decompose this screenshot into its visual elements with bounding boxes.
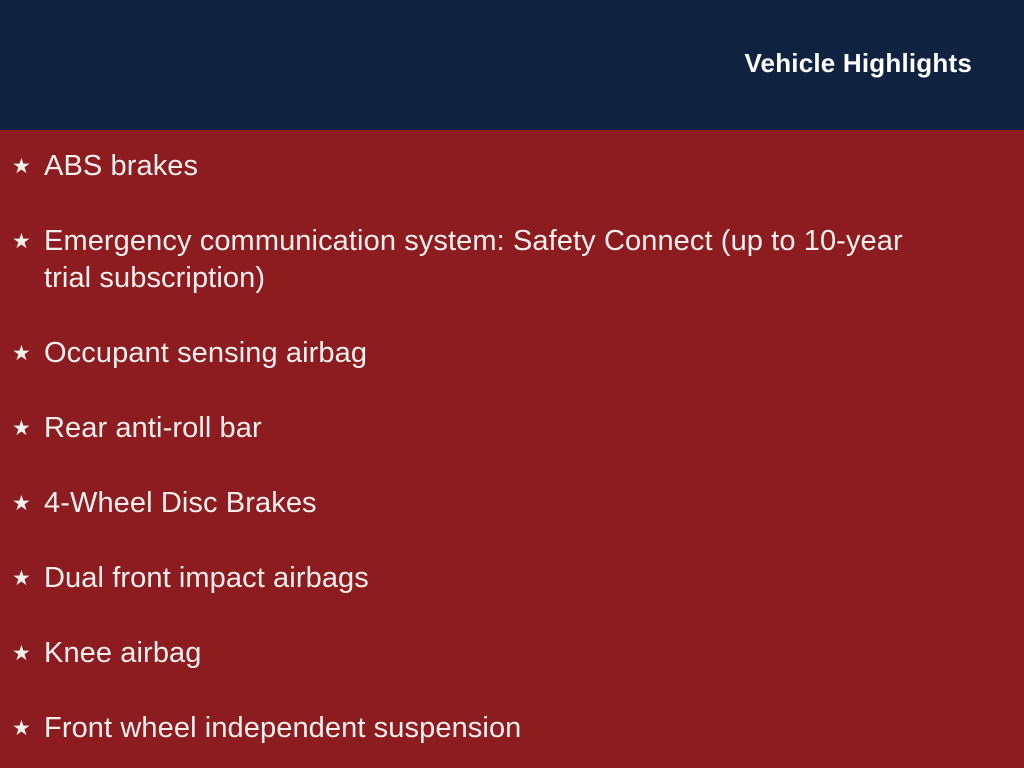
list-item: ★ ABS brakes bbox=[0, 148, 1024, 185]
list-item-label: Dual front impact airbags bbox=[44, 560, 954, 597]
star-bullet-icon: ★ bbox=[12, 335, 34, 372]
list-item: ★ Dual front impact airbags bbox=[0, 560, 1024, 597]
list-item-label: Occupant sensing airbag bbox=[44, 335, 954, 372]
list-item: ★ Rear anti-roll bar bbox=[0, 410, 1024, 447]
list-item-label: Front wheel independent suspension bbox=[44, 710, 954, 747]
star-bullet-icon: ★ bbox=[12, 485, 34, 522]
list-item: ★ Knee airbag bbox=[0, 635, 1024, 672]
vehicle-highlights-list: ★ ABS brakes ★ Emergency communication s… bbox=[0, 148, 1024, 747]
list-item: ★ Emergency communication system: Safety… bbox=[0, 223, 1024, 297]
slide: Vehicle Highlights ★ ABS brakes ★ Emerge… bbox=[0, 0, 1024, 768]
list-item-label: ABS brakes bbox=[44, 148, 954, 185]
star-bullet-icon: ★ bbox=[12, 635, 34, 672]
star-bullet-icon: ★ bbox=[12, 410, 34, 447]
list-item-label: Emergency communication system: Safety C… bbox=[44, 223, 954, 297]
star-bullet-icon: ★ bbox=[12, 710, 34, 747]
list-item: ★ Front wheel independent suspension bbox=[0, 710, 1024, 747]
list-item: ★ 4-Wheel Disc Brakes bbox=[0, 485, 1024, 522]
page-title: Vehicle Highlights bbox=[744, 46, 972, 80]
star-bullet-icon: ★ bbox=[12, 223, 34, 260]
star-bullet-icon: ★ bbox=[12, 560, 34, 597]
list-item-label: Rear anti-roll bar bbox=[44, 410, 954, 447]
star-bullet-icon: ★ bbox=[12, 148, 34, 185]
slide-header-bar: Vehicle Highlights bbox=[0, 0, 1024, 130]
list-item: ★ Occupant sensing airbag bbox=[0, 335, 1024, 372]
slide-body: ★ ABS brakes ★ Emergency communication s… bbox=[0, 130, 1024, 768]
list-item-label: 4-Wheel Disc Brakes bbox=[44, 485, 954, 522]
list-item-label: Knee airbag bbox=[44, 635, 954, 672]
